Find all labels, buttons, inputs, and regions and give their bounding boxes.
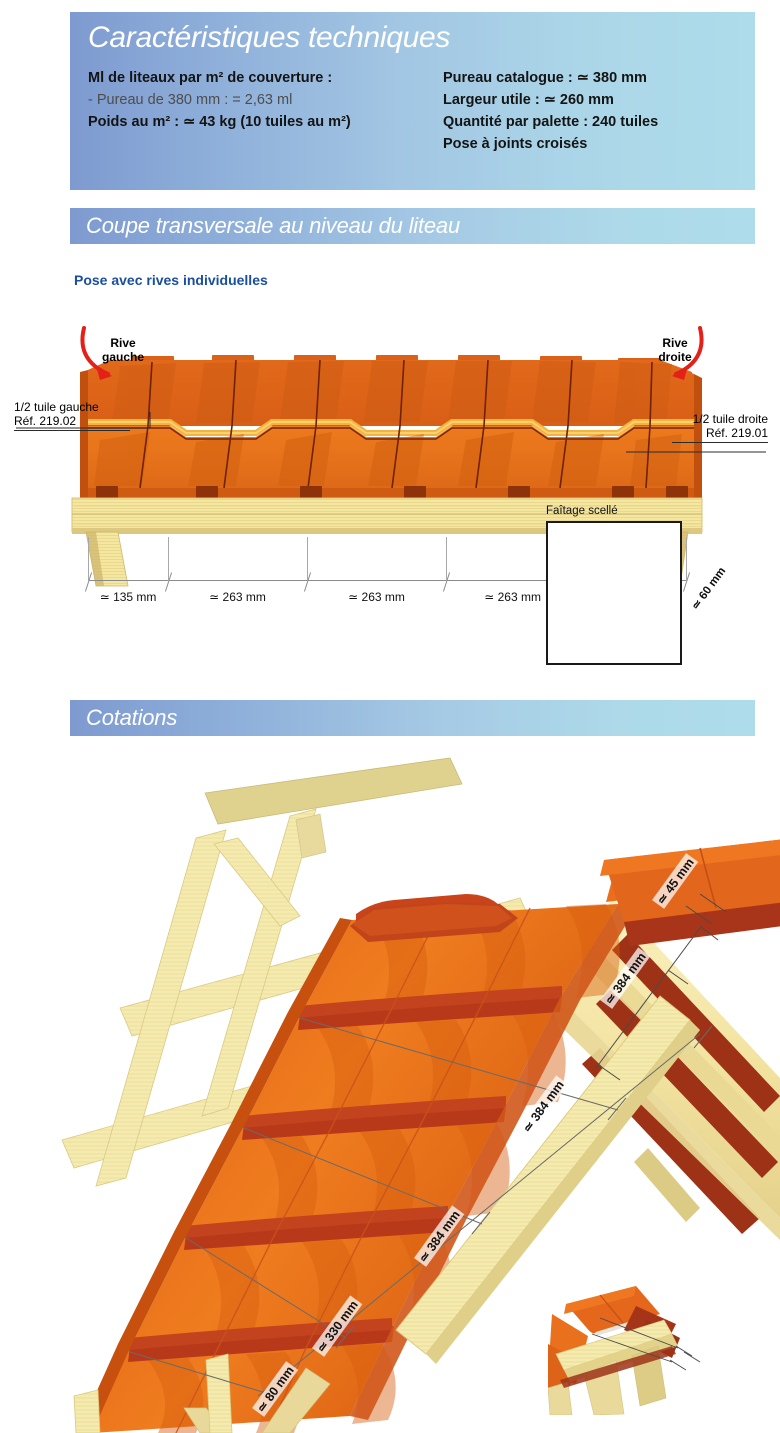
inset-faitage-scelle: Faîtage scellé: [546, 505, 682, 665]
label-demi-tuile-gauche-ref: Réf. 219.02: [14, 414, 76, 428]
label-demi-tuile-gauche: 1/2 tuile gauche Réf. 219.02: [14, 400, 130, 431]
tech-column-left: Ml de liteaux par m² de couverture : - P…: [88, 67, 443, 155]
cotations-diagram: [0, 748, 780, 1433]
technical-characteristics-columns: Ml de liteaux par m² de couverture : - P…: [70, 55, 755, 155]
page-root: Caractéristiques techniques Ml de liteau…: [0, 0, 780, 1433]
label-demi-tuile-droite: 1/2 tuile droite Réf. 219.01: [672, 412, 768, 443]
label-rive-droite-line1: Rive: [662, 336, 687, 350]
tech-right-line-1: Pureau catalogue : ≃ 380 mm: [443, 67, 658, 89]
section-header-cotations: Cotations: [70, 700, 755, 736]
label-rive-droite: Rive droite: [640, 336, 710, 365]
dimension-label: ≃ 263 mm: [484, 590, 541, 604]
technical-characteristics-title: Caractéristiques techniques: [70, 12, 755, 55]
tech-right-line-4: Pose à joints croisés: [443, 133, 658, 155]
tech-left-line-2: - Pureau de 380 mm : = 2,63 ml: [88, 89, 443, 111]
tech-left-line-3: Poids au m² : ≃ 43 kg (10 tuiles au m²): [88, 111, 443, 133]
inset-box-frame: [546, 521, 682, 665]
tech-right-line-3: Quantité par palette : 240 tuiles: [443, 111, 658, 133]
dimension-guide-line: [168, 537, 169, 581]
section-title-cotations: Cotations: [70, 705, 177, 731]
dimension-guide-line: [686, 537, 687, 581]
roof-3d-illustration: [0, 748, 780, 1433]
technical-characteristics-panel: Caractéristiques techniques Ml de liteau…: [70, 12, 755, 190]
label-demi-tuile-gauche-line1: 1/2 tuile gauche: [14, 400, 99, 414]
dimension-label: ≃ 263 mm: [348, 590, 405, 604]
tech-left-line-1: Ml de liteaux par m² de couverture :: [88, 67, 443, 89]
tech-right-line-2: Largeur utile : ≃ 260 mm: [443, 89, 658, 111]
dimension-guide-line: [307, 537, 308, 581]
label-rive-gauche-line2: gauche: [102, 350, 144, 364]
section-title-coupe: Coupe transversale au niveau du liteau: [70, 213, 460, 239]
dimension-label: ≃ 135 mm: [100, 590, 157, 604]
label-demi-tuile-droite-ref: Réf. 219.01: [706, 426, 768, 440]
label-rive-gauche: Rive gauche: [88, 336, 158, 365]
dimension-guide-line: [88, 537, 89, 581]
dimension-guide-line: [446, 537, 447, 581]
subtitle-pose-rives: Pose avec rives individuelles: [74, 272, 268, 288]
label-rive-droite-line2: droite: [658, 350, 691, 364]
dimension-label: ≃ 263 mm: [209, 590, 266, 604]
inset-label-faitage-scelle: Faîtage scellé: [546, 505, 682, 517]
label-demi-tuile-droite-line1: 1/2 tuile droite: [693, 412, 768, 426]
section-header-coupe-transversale: Coupe transversale au niveau du liteau: [70, 208, 755, 244]
tech-column-right: Pureau catalogue : ≃ 380 mm Largeur util…: [443, 67, 658, 155]
label-rive-gauche-line1: Rive: [110, 336, 135, 350]
